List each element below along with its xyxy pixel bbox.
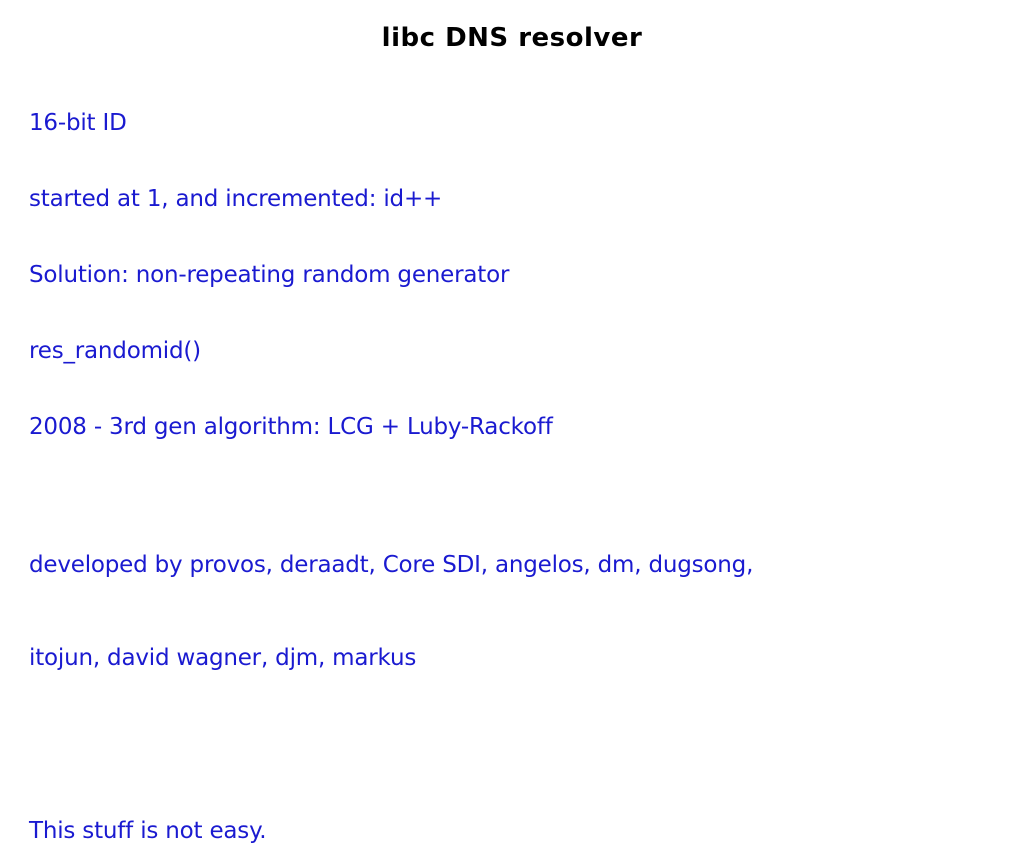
spacer — [29, 367, 959, 412]
spacer — [29, 736, 959, 816]
bullet-solution-non-repeating: Solution: non-repeating random generator — [29, 260, 959, 291]
spacer — [29, 215, 959, 260]
bullet-developers-line-1: developed by provos, deraadt, Core SDI, … — [29, 550, 959, 581]
bullet-2008-3rd-gen-algorithm: 2008 - 3rd gen algorithm: LCG + Luby-Rac… — [29, 412, 959, 443]
slide-title: libc DNS resolver — [0, 23, 1024, 53]
spacer — [29, 291, 959, 336]
bullet-started-at-1: started at 1, and incremented: id++ — [29, 184, 959, 215]
slide-body: 16-bit ID started at 1, and incremented:… — [29, 108, 959, 847]
spacer — [29, 443, 959, 488]
bullet-res-randomid: res_randomid() — [29, 336, 959, 367]
spacer — [29, 139, 959, 184]
bullet-16-bit-id: 16-bit ID — [29, 108, 959, 139]
slide-canvas: libc DNS resolver 16-bit ID started at 1… — [0, 0, 1024, 768]
bullet-this-stuff-is-not-easy: This stuff is not easy. — [29, 816, 959, 847]
bullet-developers: developed by provos, deraadt, Core SDI, … — [29, 488, 959, 736]
bullet-developers-line-2: itojun, david wagner, djm, markus — [29, 643, 959, 674]
